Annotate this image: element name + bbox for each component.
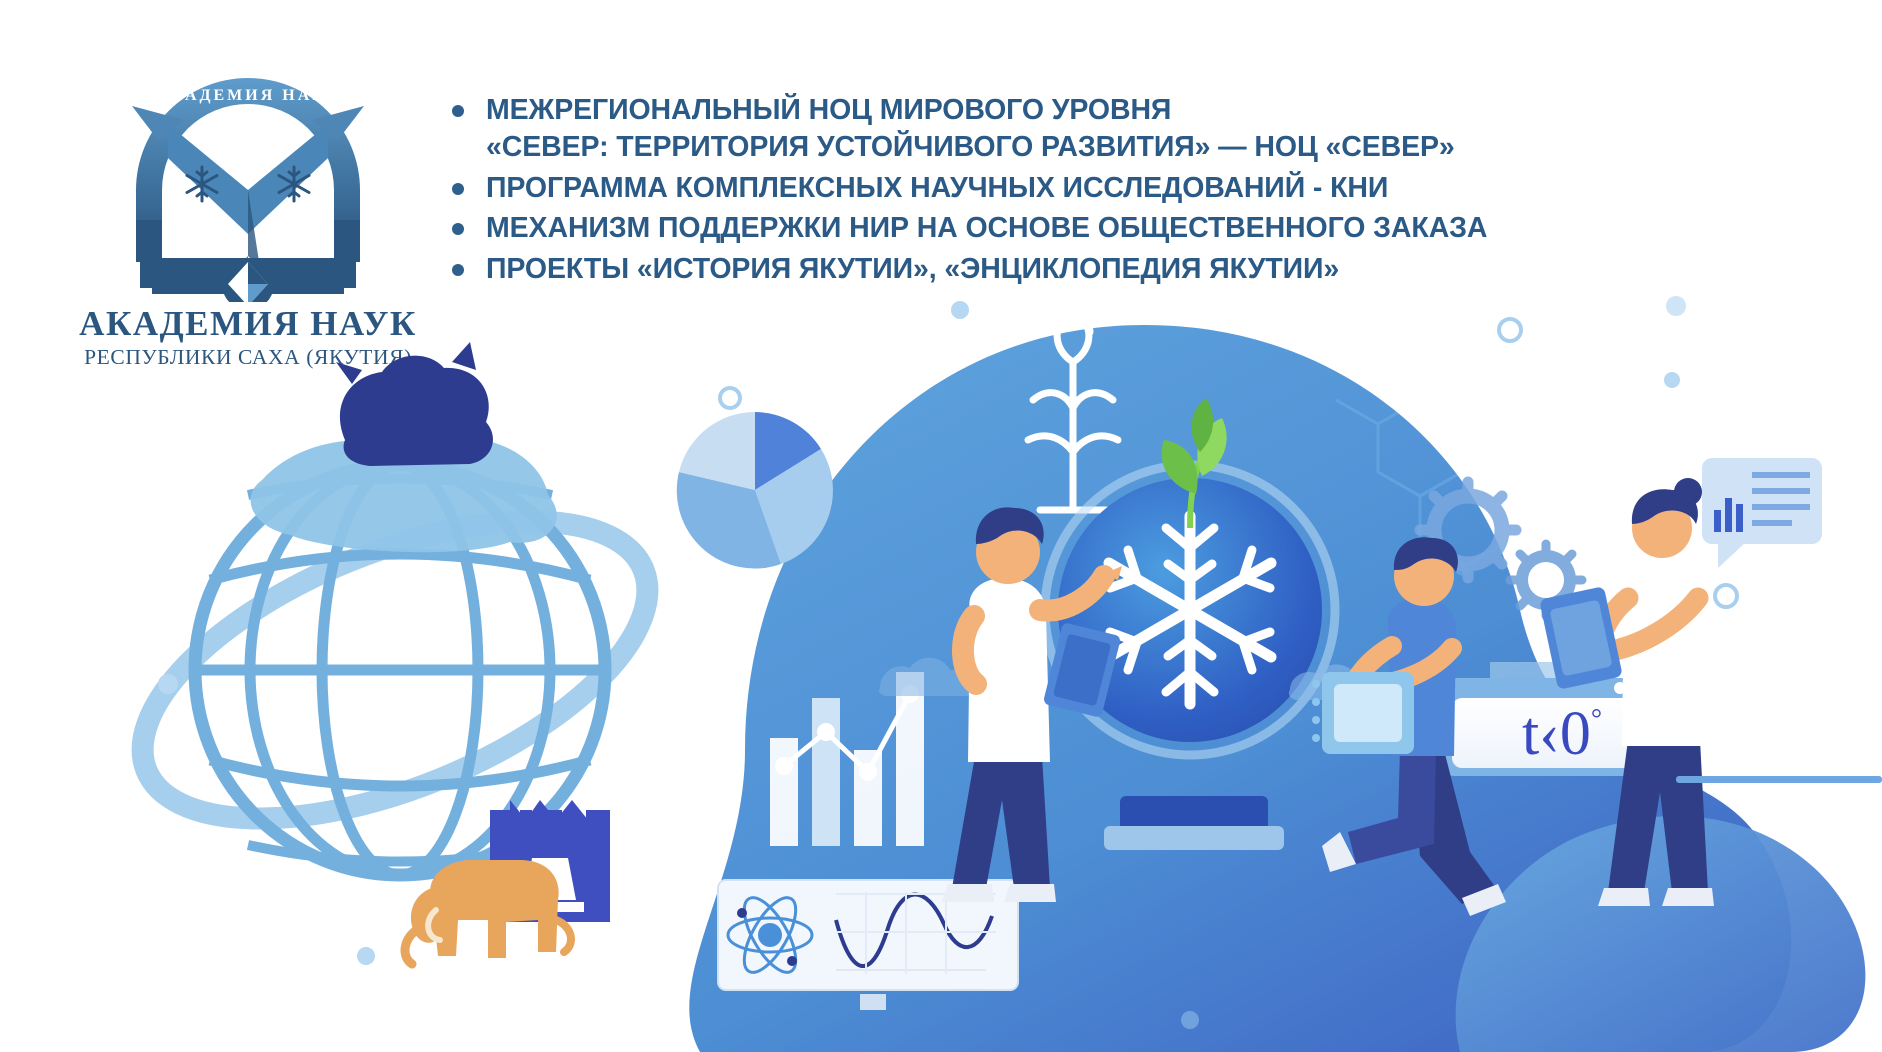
academy-of-sciences-emblem: АКАДЕМИЯ НАУК bbox=[98, 62, 398, 302]
pie-chart bbox=[677, 412, 833, 569]
bullet-text-0: МЕЖРЕГИОНАЛЬНЫЙ НОЦ МИРОВОГО УРОВНЯ «СЕВ… bbox=[486, 92, 1455, 166]
temperature-label: t‹0° bbox=[1522, 700, 1602, 768]
chat-bubble-chart bbox=[1702, 458, 1822, 568]
banner-root: АКАДЕМИЯ НАУК bbox=[0, 0, 1882, 1052]
bullet-dot-icon bbox=[452, 223, 464, 235]
bullet-list: МЕЖРЕГИОНАЛЬНЫЙ НОЦ МИРОВОГО УРОВНЯ «СЕВ… bbox=[452, 92, 1712, 292]
bullet-text-1: ПРОГРАММА КОМПЛЕКСНЫХ НАУЧНЫХ ИССЛЕДОВАН… bbox=[486, 170, 1388, 207]
emblem-ring-text: АКАДЕМИЯ НАУК bbox=[156, 87, 340, 104]
bullet-item-1: ПРОГРАММА КОМПЛЕКСНЫХ НАУЧНЫХ ИССЛЕДОВАН… bbox=[452, 170, 1712, 207]
svg-text:АКАДЕМИЯ НАУК: АКАДЕМИЯ НАУК bbox=[156, 87, 340, 104]
bullet-item-2: МЕХАНИЗМ ПОДДЕРЖКИ НИР НА ОСНОВЕ ОБЩЕСТВ… bbox=[452, 210, 1712, 247]
polar-bear bbox=[336, 342, 493, 466]
bullet-dot-icon bbox=[452, 183, 464, 195]
bullet-dot-icon bbox=[452, 105, 464, 117]
science-illustration: t‹0° bbox=[0, 280, 1882, 1052]
bullet-dot-icon bbox=[452, 264, 464, 276]
bullet-item-0: МЕЖРЕГИОНАЛЬНЫЙ НОЦ МИРОВОГО УРОВНЯ «СЕВ… bbox=[452, 92, 1712, 166]
bullet-text-2: МЕХАНИЗМ ПОДДЕРЖКИ НИР НА ОСНОВЕ ОБЩЕСТВ… bbox=[486, 210, 1487, 247]
baseline-rule bbox=[1676, 776, 1882, 783]
